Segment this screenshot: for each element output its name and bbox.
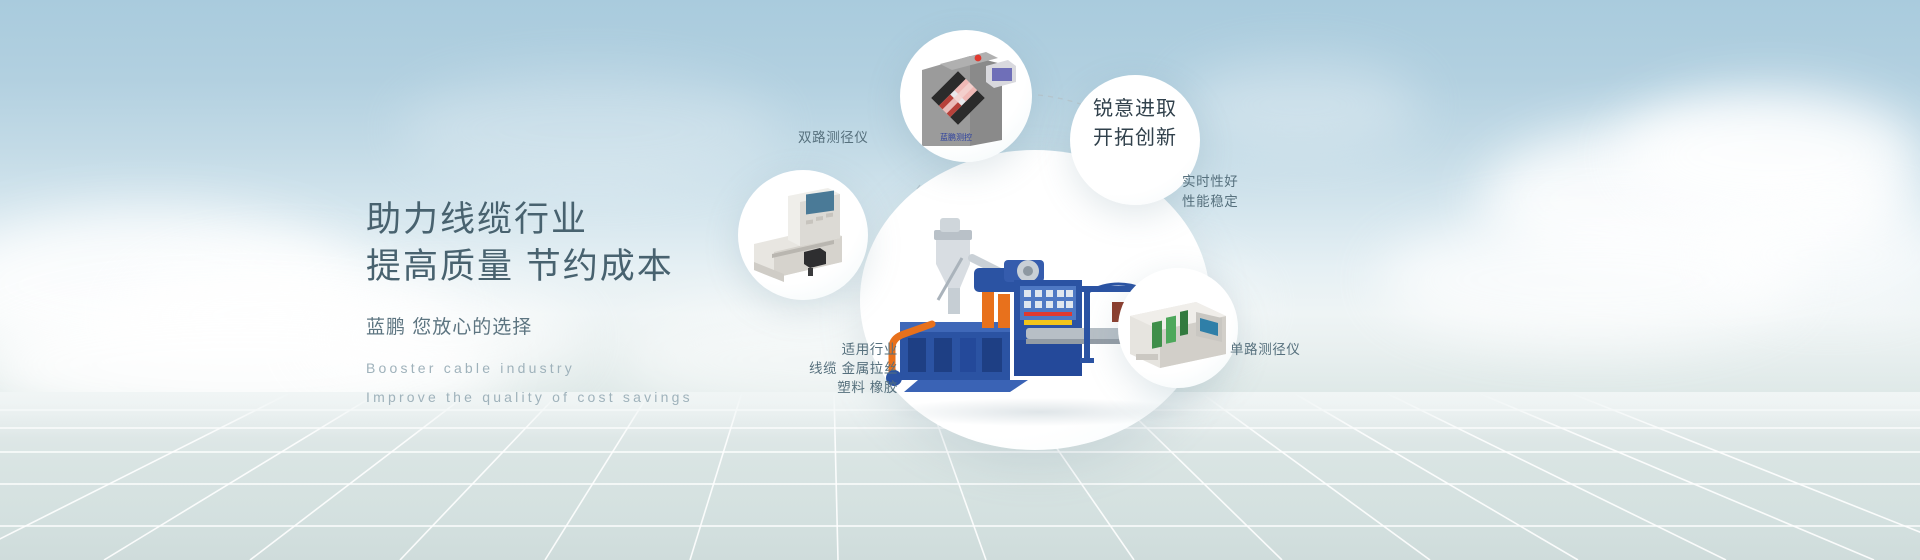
- slogan-block: 锐意进取 开拓创新: [1070, 95, 1200, 153]
- product-composition: 蓝鹏测控: [860, 0, 1920, 560]
- cloud-shape: [400, 70, 780, 190]
- bubble-dual-gauge: 蓝鹏测控: [900, 30, 1032, 162]
- label-features: 实时性好 性能稳定: [1182, 172, 1238, 212]
- sub-headline: 蓝鹏 您放心的选择: [366, 312, 926, 339]
- machine-ground-shadow: [890, 398, 1190, 426]
- label-industry-line-2: 线缆 金属拉丝: [750, 359, 898, 378]
- label-feature-line-2: 性能稳定: [1182, 192, 1238, 212]
- desk-instrument-device: [738, 170, 868, 300]
- slogan-line-1: 锐意进取: [1070, 95, 1200, 124]
- bubble-industry-application: [738, 170, 868, 300]
- label-industry-line-3: 塑料 橡胶: [750, 378, 898, 397]
- label-single-gauge: 单路测径仪: [1230, 340, 1301, 359]
- banner-stage: 助力线缆行业 提高质量 节约成本 蓝鹏 您放心的选择 Booster cable…: [0, 0, 1920, 560]
- bubble-single-gauge: [1118, 268, 1238, 388]
- single-gauge-device: [1118, 268, 1238, 388]
- label-industry: 适用行业 线缆 金属拉丝 塑料 橡胶: [750, 340, 898, 397]
- label-industry-line-1: 适用行业: [750, 340, 898, 359]
- dual-gauge-device: 蓝鹏测控: [900, 30, 1032, 162]
- label-dual-gauge: 双路测径仪: [798, 128, 869, 147]
- device-brand-mark: 蓝鹏测控: [940, 132, 972, 142]
- slogan-line-2: 开拓创新: [1070, 124, 1200, 153]
- label-feature-line-1: 实时性好: [1182, 172, 1238, 192]
